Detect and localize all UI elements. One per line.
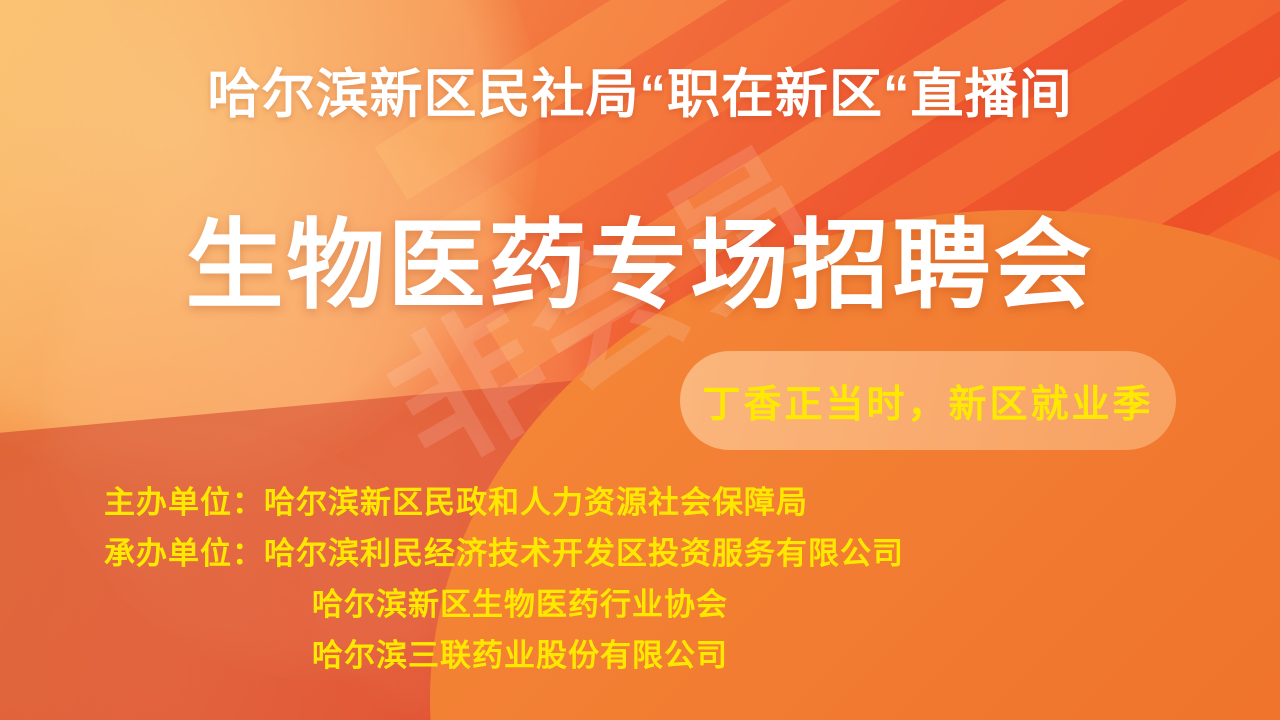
organizer-line-coorganizer: 承办单位：哈尔滨利民经济技术开发区投资服务有限公司: [104, 528, 904, 579]
poster-tagline: 丁香正当时，新区就业季: [680, 351, 1176, 450]
poster-main-headline: 生物医药专场招聘会: [0, 214, 1280, 318]
organizer-block: 主办单位：哈尔滨新区民政和人力资源社会保障局 承办单位：哈尔滨利民经济技术开发区…: [104, 477, 904, 681]
poster-content: 哈尔滨新区民社局“职在新区“直播间 生物医药专场招聘会 丁香正当时，新区就业季 …: [0, 0, 1280, 720]
organizer-line-company: 哈尔滨三联药业股份有限公司: [104, 630, 904, 681]
poster-kicker-title: 哈尔滨新区民社局“职在新区“直播间: [0, 66, 1280, 123]
organizer-line-association: 哈尔滨新区生物医药行业协会: [104, 579, 904, 630]
event-poster: 非会员 哈尔滨新区民社局“职在新区“直播间 生物医药专场招聘会 丁香正当时，新区…: [0, 0, 1280, 720]
organizer-line-host: 主办单位：哈尔滨新区民政和人力资源社会保障局: [104, 477, 904, 528]
